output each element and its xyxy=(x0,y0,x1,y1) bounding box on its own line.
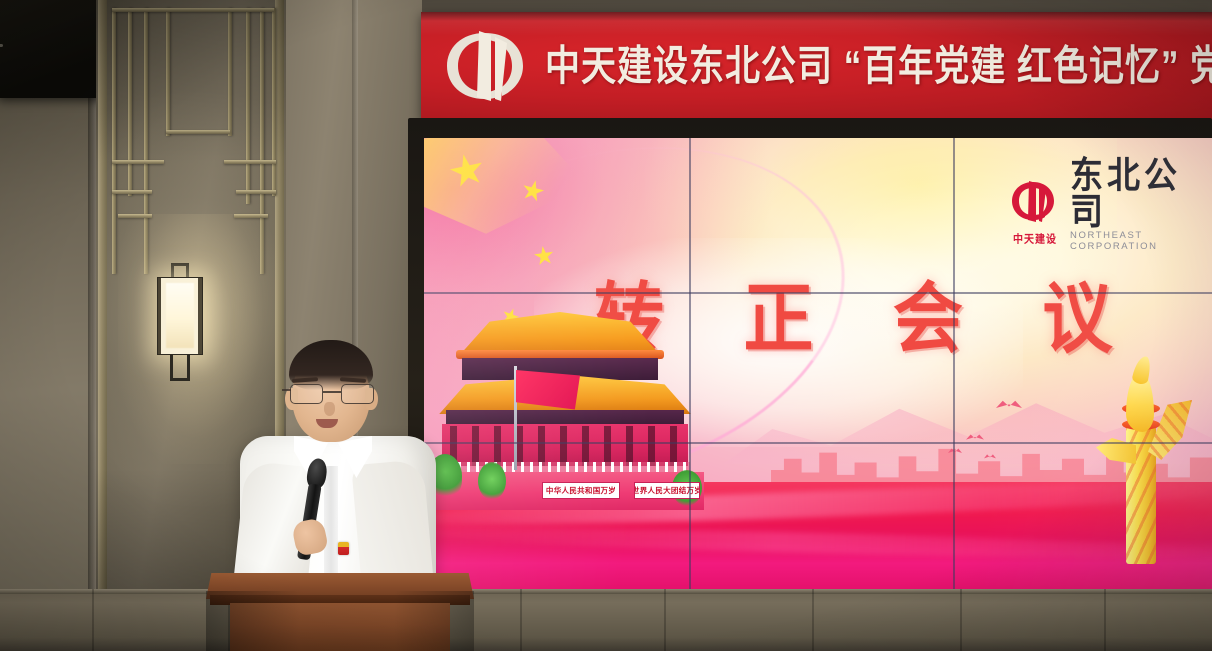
lattice-vertical-bar xyxy=(112,8,116,274)
event-banner: 中天建设东北公司 “百年党建 红色记忆” 党日活动 xyxy=(421,12,1212,120)
lattice-horizontal-bar xyxy=(166,130,230,134)
screen-company-logo: 中天建设 东北公司 NORTHEAST CORPORATION xyxy=(1008,160,1212,252)
zhongtian-construction-logo xyxy=(439,27,531,105)
lattice-vertical-bar xyxy=(166,8,170,136)
wainscot-cap xyxy=(0,589,1212,594)
lattice-horizontal-bar xyxy=(118,214,152,218)
sconce-light xyxy=(166,283,194,348)
lattice-frame-left xyxy=(98,0,107,651)
lattice-horizontal-bar xyxy=(112,190,152,194)
tiananmen-gate: 中华人民共和国万岁 世界人民大团结万岁 xyxy=(432,312,704,508)
gate-tree-middle xyxy=(478,462,506,500)
logo-subtitle: 中天建设 xyxy=(1008,229,1062,246)
lattice-vertical-bar xyxy=(246,8,250,204)
lectern-shading xyxy=(206,591,474,651)
glasses-bridge xyxy=(323,391,341,393)
banner-title: 中天建设东北公司 “百年党建 红色记忆” 党日活动 xyxy=(545,45,1212,86)
party-emblem-pin xyxy=(338,542,349,555)
lattice-horizontal-bar xyxy=(236,190,276,194)
led-video-wall[interactable]: 中天建设 东北公司 NORTHEAST CORPORATION 转 正 会 议 xyxy=(424,138,1212,592)
torch-flame-tip xyxy=(1131,355,1152,386)
lens-left xyxy=(290,384,323,404)
torch-monument xyxy=(1090,348,1190,564)
gate-slogan-left: 中华人民共和国万岁 xyxy=(542,482,620,499)
screen-company-en: NORTHEAST CORPORATION xyxy=(1070,230,1212,252)
zhongtian-logo-mark: 中天建设 xyxy=(1008,180,1058,232)
lower-wall-wainscot xyxy=(0,589,1212,651)
lattice-vertical-bar xyxy=(260,8,264,274)
sconce-shade xyxy=(157,277,203,355)
glasses-temple xyxy=(282,389,291,391)
lattice-horizontal-bar xyxy=(112,8,274,12)
lattice-vertical-bar xyxy=(272,8,276,196)
lattice-horizontal-bar xyxy=(234,214,268,218)
lattice-horizontal-bar xyxy=(112,160,164,164)
gate-slogan-right: 世界人民大团结万岁 xyxy=(634,482,700,499)
lens-right xyxy=(341,384,374,404)
lattice-vertical-bar xyxy=(128,8,132,196)
presenter-nose xyxy=(324,402,335,416)
wall-sconce-lamp xyxy=(157,277,203,355)
lattice-vertical-bar xyxy=(228,8,232,136)
screen-company-cn: 东北公司 xyxy=(1070,157,1212,230)
lattice-vertical-bar xyxy=(144,8,148,274)
conference-room-photo: 中天建设东北公司 “百年党建 红色记忆” 党日活动 中天建设 xyxy=(0,0,1212,651)
gate-columns xyxy=(450,426,680,466)
sconce-bracket-top xyxy=(171,263,189,278)
eyeglasses-icon xyxy=(287,384,377,404)
wooden-lectern xyxy=(206,573,474,651)
lattice-horizontal-bar xyxy=(224,160,276,164)
sconce-bracket-bottom xyxy=(170,355,190,381)
